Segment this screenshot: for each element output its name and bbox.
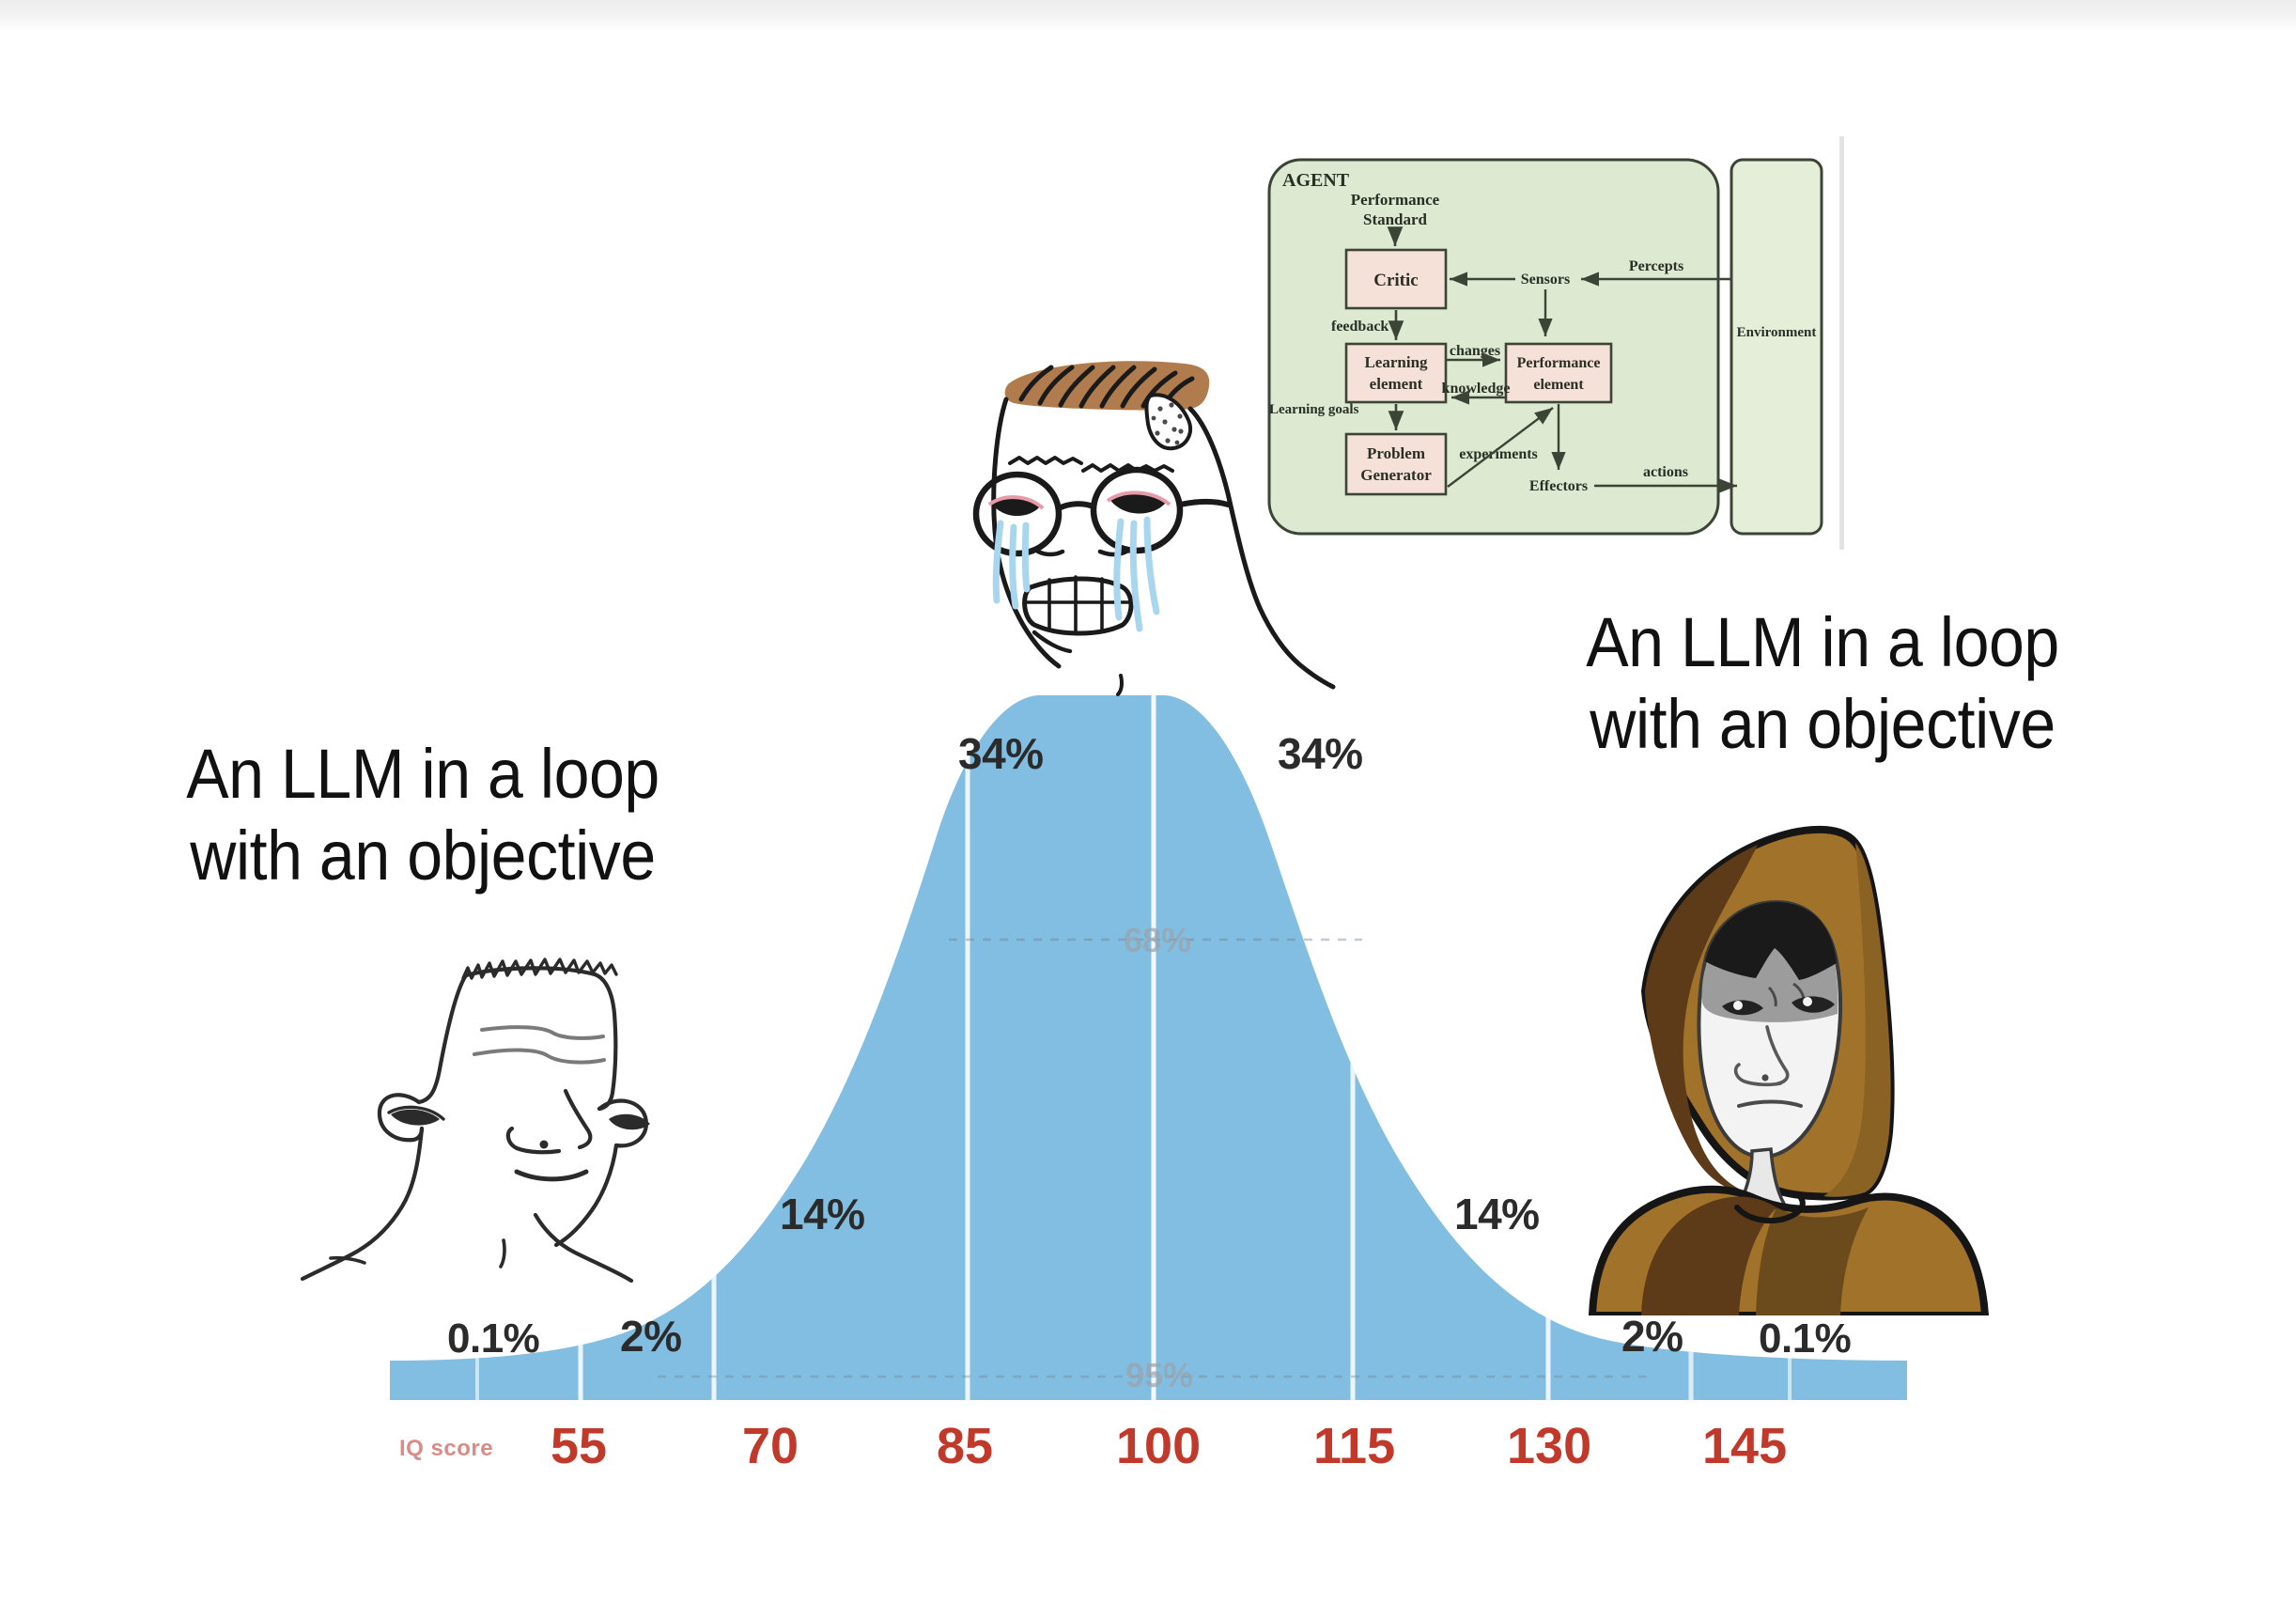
pct-label-right-34: 34%: [1278, 728, 1363, 779]
effectors-label: Effectors: [1529, 478, 1588, 494]
actions-label: actions: [1643, 464, 1688, 480]
performance-element-label: Performance: [1517, 355, 1601, 371]
axis-tick-85: 85: [937, 1417, 993, 1475]
pct-label-right-0-1: 0.1%: [1759, 1315, 1851, 1362]
axis-tick-145: 145: [1702, 1417, 1787, 1475]
axis-tick-100: 100: [1116, 1417, 1201, 1475]
sensors-label: Sensors: [1521, 272, 1570, 288]
axis-tick-55: 55: [551, 1417, 607, 1475]
percepts-label: Percepts: [1629, 258, 1683, 274]
pct-label-left-34: 34%: [958, 728, 1044, 779]
critic-label: Critic: [1373, 271, 1418, 290]
performance-element-box: [1506, 344, 1611, 402]
pct-label-left-14: 14%: [780, 1189, 865, 1239]
pct-label-right-2: 2%: [1621, 1311, 1683, 1362]
hooded-doomer-wojak-figure: [1555, 803, 2006, 1315]
performance-element-label-2: element: [1533, 377, 1584, 393]
crying-soyjak-figure: [972, 305, 1376, 709]
changes-label: changes: [1450, 343, 1500, 359]
pct-label-95: 95%: [1125, 1356, 1193, 1395]
brainlet-wojak-figure: [282, 916, 686, 1301]
axis-tick-115: 115: [1313, 1417, 1395, 1475]
pct-label-right-14: 14%: [1454, 1189, 1540, 1239]
environment-label: Environment: [1737, 325, 1817, 340]
meme-canvas: 34% 34% 14% 14% 2% 2% 0.1% 0.1% 68% 95% …: [0, 0, 2296, 1603]
pct-label-68: 68%: [1124, 921, 1191, 960]
axis-tick-70: 70: [742, 1417, 799, 1475]
pct-label-left-2: 2%: [620, 1311, 681, 1362]
axis-tick-130: 130: [1507, 1417, 1591, 1475]
performance-standard-label-2: Standard: [1363, 210, 1428, 228]
caption-left: An LLM in a loop with an objective: [112, 733, 734, 897]
pct-label-left-0-1: 0.1%: [447, 1315, 539, 1362]
environment-container: [1731, 160, 1822, 534]
caption-right: An LLM in a loop with an objective: [1503, 601, 2143, 766]
knowledge-label: knowledge: [1442, 381, 1511, 397]
performance-standard-label: Performance: [1351, 191, 1440, 209]
agent-label: AGENT: [1282, 170, 1350, 191]
learning-element-label-2: element: [1370, 375, 1423, 393]
axis-label-iq-score: IQ score: [399, 1436, 493, 1462]
